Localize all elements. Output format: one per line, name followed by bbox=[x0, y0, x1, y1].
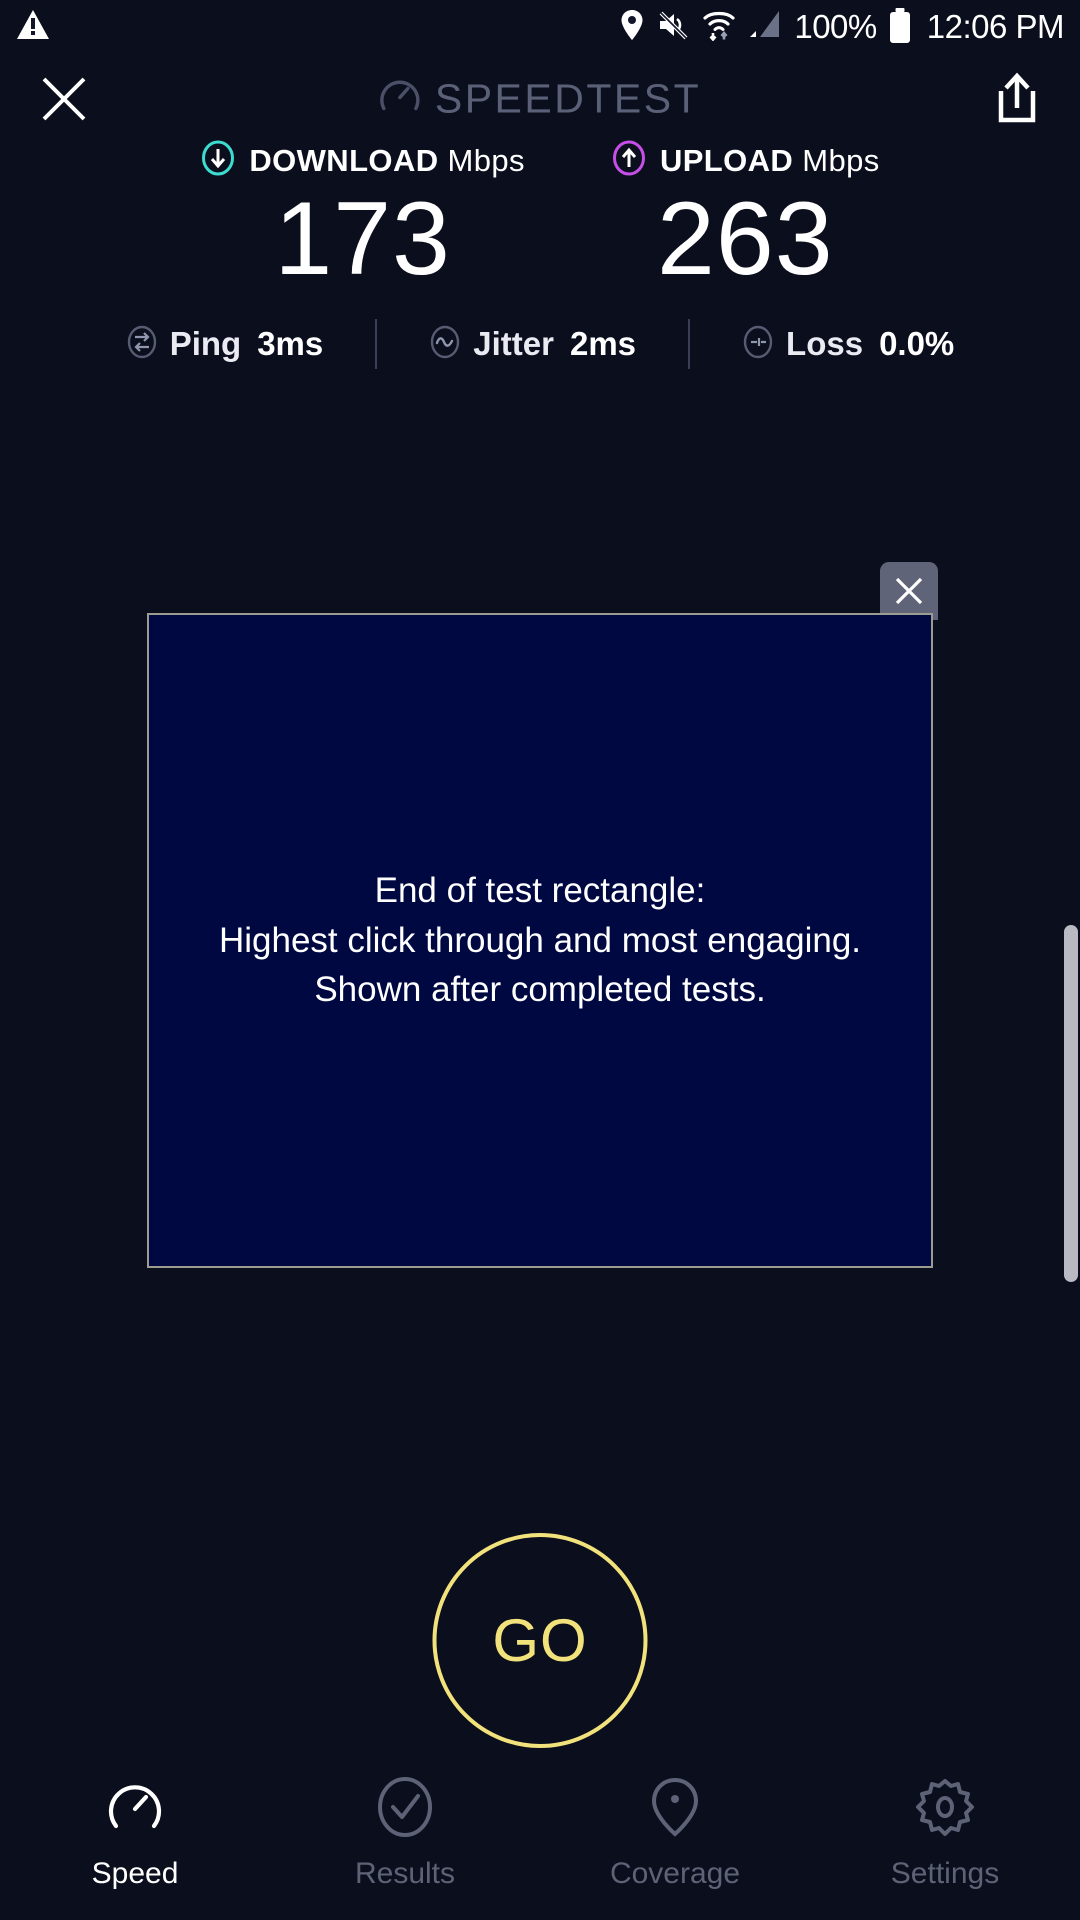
loss-icon bbox=[742, 325, 774, 364]
upload-label-bold: UPLOAD bbox=[660, 143, 793, 178]
upload-value: 263 bbox=[657, 187, 834, 291]
app-bar: SPEEDTEST bbox=[0, 54, 1080, 144]
nav-label-results: Results bbox=[355, 1857, 455, 1891]
nav-item-results[interactable]: Results bbox=[270, 1776, 540, 1891]
loss-value: 0.0% bbox=[879, 325, 954, 363]
battery-percent-label: 100% bbox=[794, 8, 876, 46]
upload-header: UPLOAD Mbps bbox=[611, 140, 880, 181]
status-bar-right: 100% 12:06 PM bbox=[620, 8, 1064, 46]
upload-metric: UPLOAD Mbps 263 bbox=[611, 140, 880, 291]
download-label-unit: Mbps bbox=[448, 143, 525, 178]
nav-item-speed[interactable]: Speed bbox=[0, 1776, 270, 1891]
cellular-signal-icon bbox=[749, 9, 781, 45]
results-panel: DOWNLOAD Mbps 173 UPLOAD Mbps 263 bbox=[0, 140, 1080, 369]
bottom-navigation: Speed Results Coverage bbox=[0, 1760, 1080, 1920]
nav-label-coverage: Coverage bbox=[610, 1857, 740, 1891]
check-circle-icon bbox=[374, 1776, 436, 1843]
download-metric: DOWNLOAD Mbps 173 bbox=[200, 140, 525, 291]
ping-value: 3ms bbox=[257, 325, 323, 363]
speed-metrics-row: DOWNLOAD Mbps 173 UPLOAD Mbps 263 bbox=[0, 140, 1080, 291]
location-icon bbox=[620, 9, 644, 46]
upload-arrow-icon bbox=[611, 140, 647, 181]
ping-icon bbox=[126, 325, 158, 364]
nav-label-settings: Settings bbox=[891, 1857, 999, 1891]
upload-label-unit: Mbps bbox=[802, 143, 879, 178]
battery-full-icon bbox=[890, 12, 910, 43]
jitter-stat: Jitter 2ms bbox=[377, 325, 688, 364]
download-header: DOWNLOAD Mbps bbox=[200, 140, 525, 181]
ad-close-button[interactable] bbox=[880, 562, 938, 620]
nav-label-speed: Speed bbox=[92, 1857, 179, 1891]
speedometer-icon bbox=[104, 1776, 166, 1843]
scrollbar-thumb[interactable] bbox=[1064, 925, 1078, 1282]
gear-icon bbox=[914, 1776, 976, 1843]
map-pin-icon bbox=[644, 1776, 706, 1843]
ping-label: Ping bbox=[170, 325, 242, 363]
close-button[interactable] bbox=[38, 73, 90, 125]
nav-item-coverage[interactable]: Coverage bbox=[540, 1776, 810, 1891]
jitter-value: 2ms bbox=[570, 325, 636, 363]
mute-icon bbox=[657, 10, 689, 45]
advertisement-banner[interactable]: End of test rectangle: Highest click thr… bbox=[147, 613, 933, 1268]
speedtest-app-screen: 100% 12:06 PM SPEEDTEST bbox=[0, 0, 1080, 1920]
share-button[interactable] bbox=[992, 72, 1042, 126]
nav-item-settings[interactable]: Settings bbox=[810, 1776, 1080, 1891]
download-arrow-icon bbox=[200, 140, 236, 181]
ping-stat: Ping 3ms bbox=[74, 325, 376, 364]
download-label-bold: DOWNLOAD bbox=[249, 143, 438, 178]
go-button[interactable]: GO bbox=[433, 1533, 648, 1748]
connection-stats-row: Ping 3ms Jitter 2ms bbox=[0, 319, 1080, 369]
status-bar: 100% 12:06 PM bbox=[0, 0, 1080, 54]
speedtest-gauge-icon bbox=[379, 76, 421, 123]
brand: SPEEDTEST bbox=[379, 76, 701, 123]
warning-triangle-icon bbox=[16, 9, 50, 45]
status-bar-left bbox=[16, 9, 50, 45]
loss-stat: Loss 0.0% bbox=[690, 325, 1006, 364]
brand-title: SPEEDTEST bbox=[435, 76, 701, 123]
download-value: 173 bbox=[274, 187, 451, 291]
ad-text: End of test rectangle: Highest click thr… bbox=[205, 866, 875, 1015]
jitter-label: Jitter bbox=[473, 325, 554, 363]
upload-label: UPLOAD Mbps bbox=[660, 143, 880, 179]
jitter-icon bbox=[429, 325, 461, 364]
download-label: DOWNLOAD Mbps bbox=[249, 143, 525, 179]
go-button-label: GO bbox=[492, 1606, 587, 1675]
wifi-icon bbox=[702, 8, 736, 46]
close-icon bbox=[892, 574, 926, 608]
loss-label: Loss bbox=[786, 325, 863, 363]
clock-label: 12:06 PM bbox=[927, 8, 1064, 46]
